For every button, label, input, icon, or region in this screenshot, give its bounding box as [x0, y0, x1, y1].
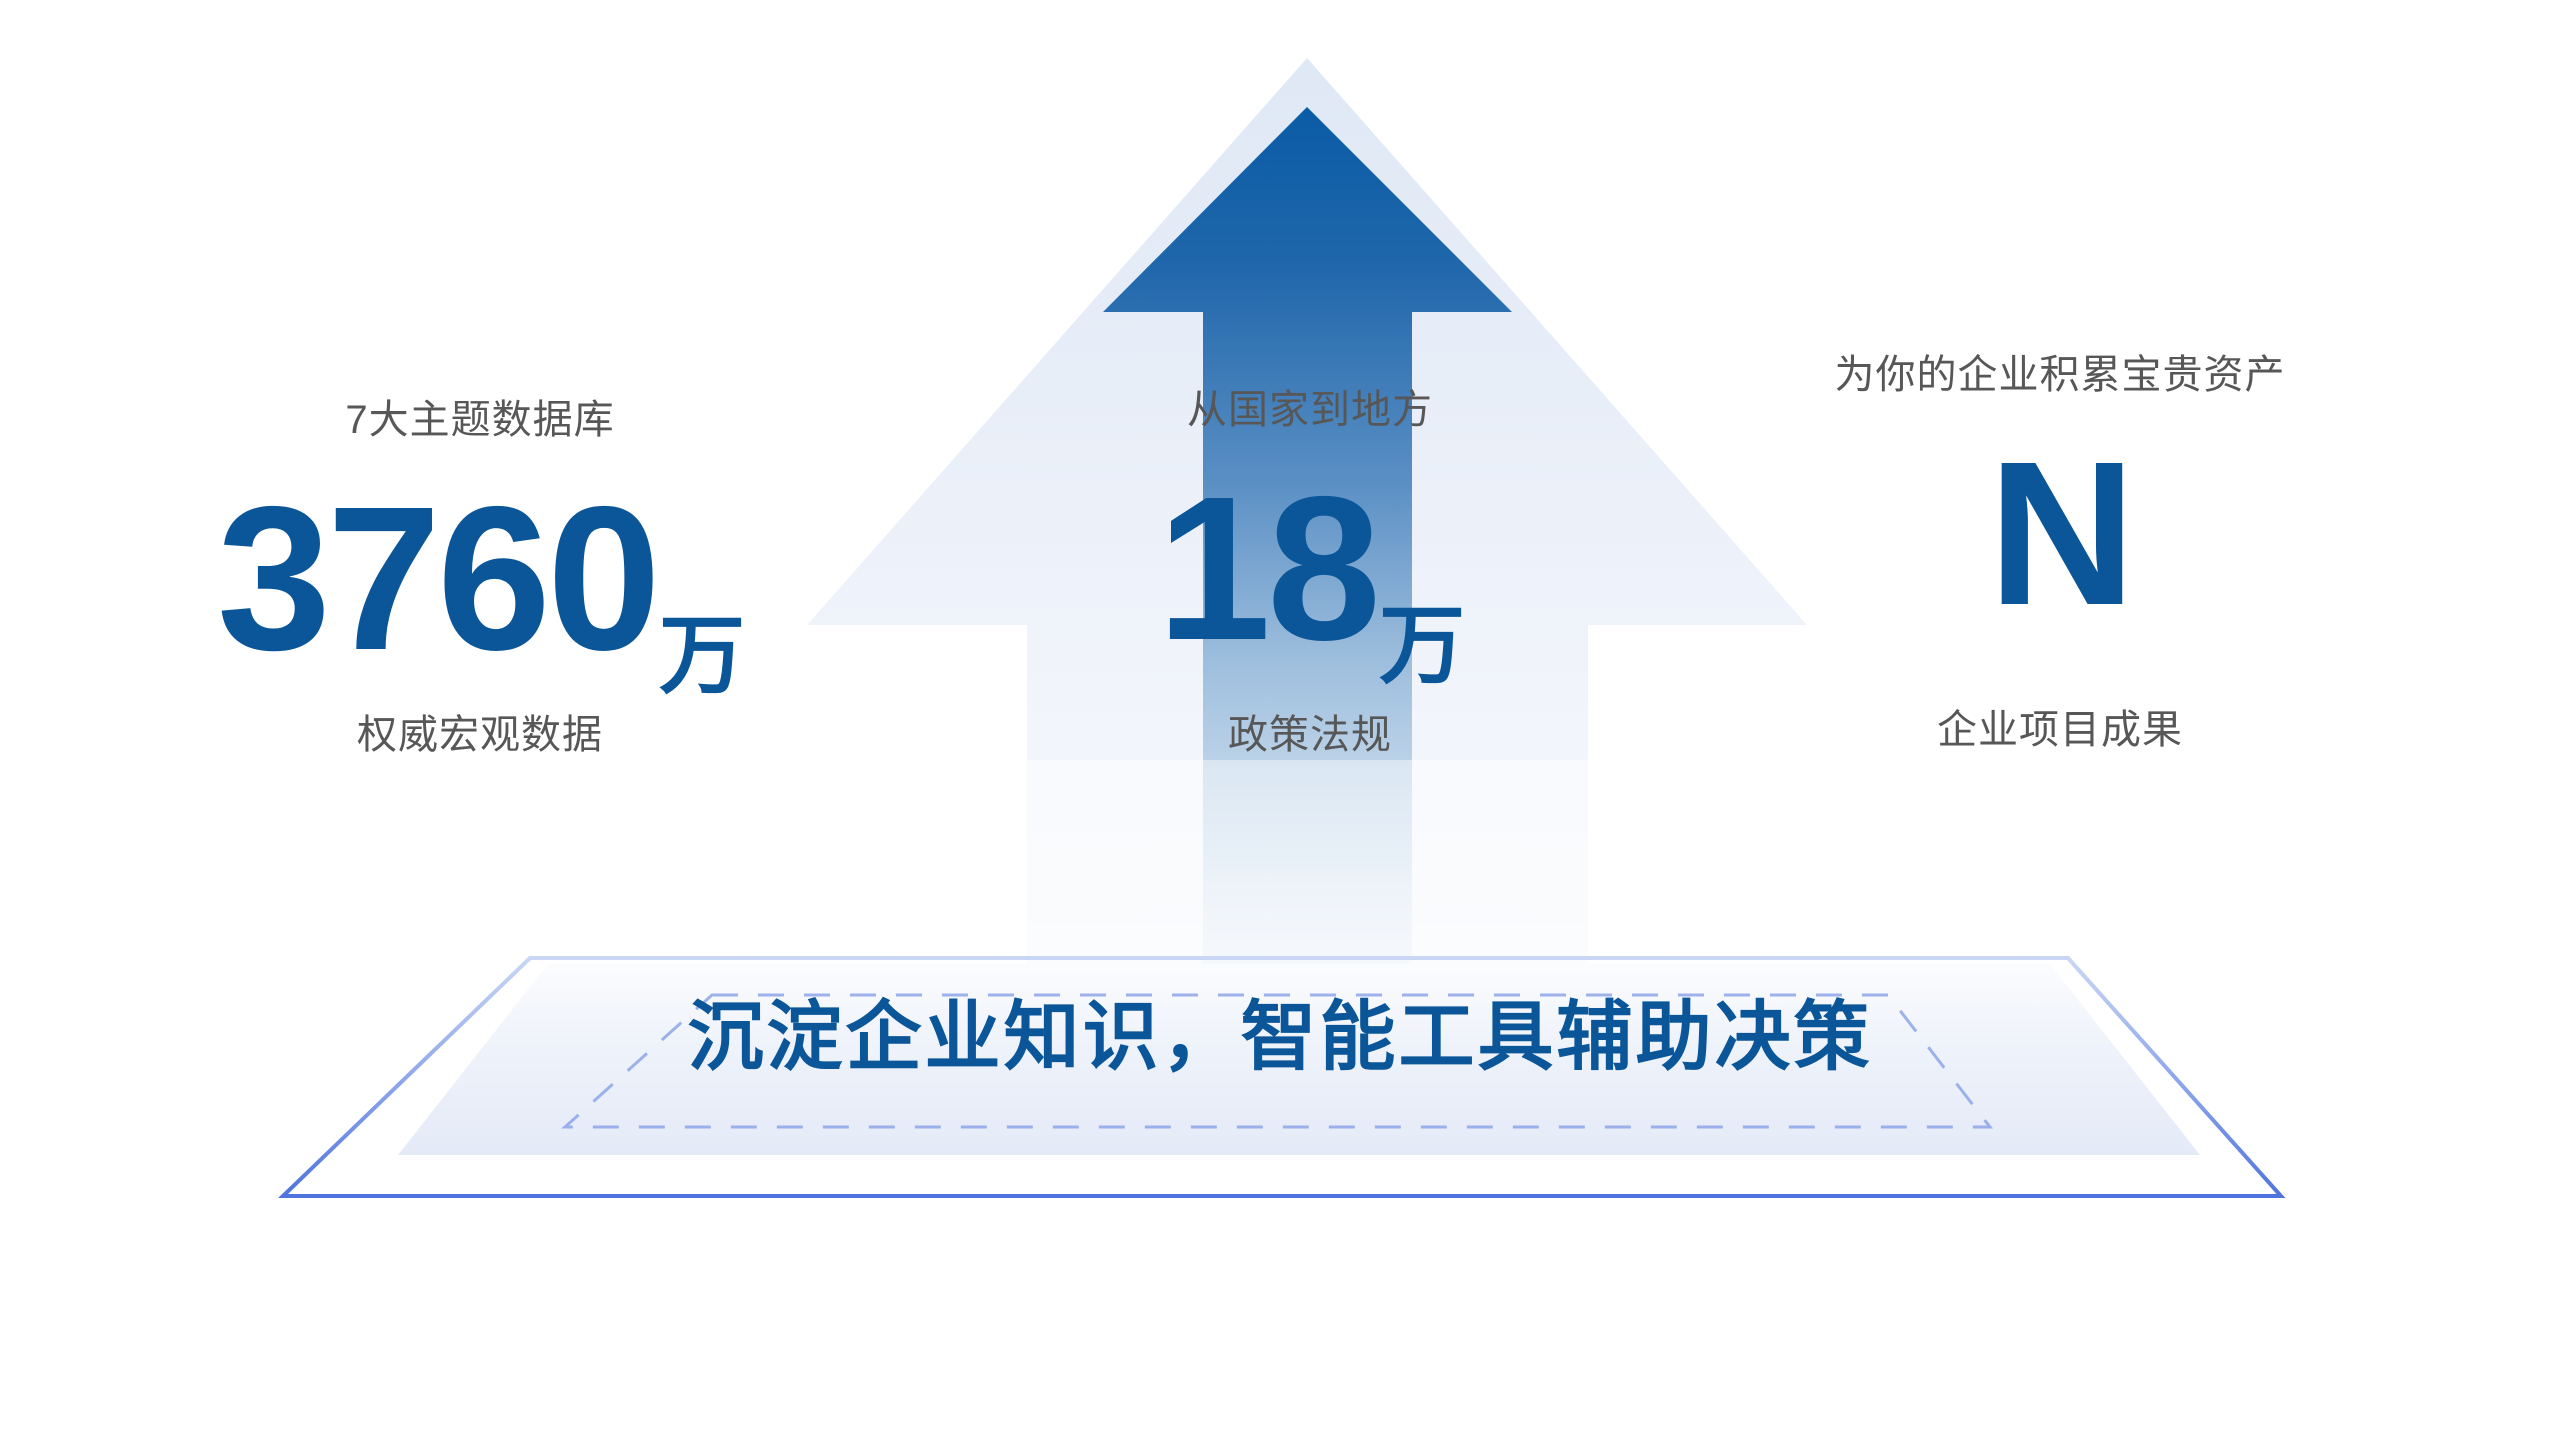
stat-value: N: [1760, 431, 2360, 636]
stat-block-enterprise-results: 为你的企业积累宝贵资产 N 企业项目成果: [1760, 355, 2360, 750]
stat-bottom-label: 企业项目成果: [1760, 710, 2360, 750]
stat-value: 3760万: [90, 476, 870, 681]
stat-number: 3760: [217, 464, 657, 693]
stat-top-label: 7大主题数据库: [90, 400, 870, 440]
stat-top-label: 从国家到地方: [1010, 390, 1610, 430]
infographic-stage: 7大主题数据库 3760万 权威宏观数据 从国家到地方 18万 政策法规 为你的…: [0, 0, 2560, 1440]
stats-content: 7大主题数据库 3760万 权威宏观数据 从国家到地方 18万 政策法规 为你的…: [0, 0, 2560, 1440]
stat-number: N: [1988, 419, 2132, 648]
stat-value: 18万: [1010, 466, 1610, 671]
stat-block-policy-regulation: 从国家到地方 18万 政策法规: [1010, 390, 1610, 755]
stat-top-label: 为你的企业积累宝贵资产: [1760, 355, 2360, 395]
stat-bottom-label: 权威宏观数据: [90, 715, 870, 755]
stat-block-macro-data: 7大主题数据库 3760万 权威宏观数据: [90, 400, 870, 755]
stat-unit: 万: [659, 608, 745, 704]
stat-number: 18: [1157, 454, 1377, 683]
stat-bottom-label: 政策法规: [1010, 715, 1610, 755]
banner-headline: 沉淀企业知识，智能工具辅助决策: [0, 1000, 2560, 1076]
stat-unit: 万: [1379, 598, 1465, 694]
